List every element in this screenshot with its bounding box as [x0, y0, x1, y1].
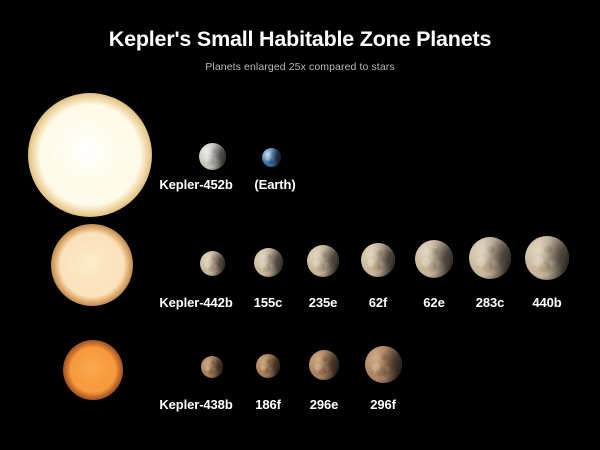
- planet-kepler-283c: [469, 237, 511, 279]
- planet-label-kepler-186f: 186f: [255, 397, 281, 412]
- figure-canvas: Kepler's Small Habitable Zone Planets Pl…: [0, 0, 600, 450]
- figure-title: Kepler's Small Habitable Zone Planets: [0, 27, 600, 52]
- planet-surface-texture: [256, 354, 280, 378]
- k-type-star: [68, 241, 116, 289]
- planet-label-kepler-62e: 62e: [423, 295, 444, 310]
- planet-label-kepler-296e: 296e: [310, 397, 339, 412]
- planet-kepler-62e: [415, 240, 453, 278]
- planet-surface-texture: [469, 237, 511, 279]
- planet-label-kepler-283c: 283c: [476, 295, 505, 310]
- planet-surface-texture: [361, 243, 395, 277]
- planet-kepler-452b: [199, 143, 226, 170]
- planet-surface-texture: [415, 240, 453, 278]
- planet-label-kepler-442b: Kepler-442b: [159, 295, 232, 310]
- planet-kepler-186f: [256, 354, 280, 378]
- m-type-star: [76, 353, 110, 387]
- planet-surface-texture: [200, 251, 225, 276]
- planet-label-kepler-440b: 440b: [532, 295, 561, 310]
- planet-surface-texture: [201, 356, 223, 378]
- planet-kepler-438b: [201, 356, 223, 378]
- planet-kepler-155c: [254, 248, 283, 277]
- planet-surface-texture: [525, 236, 569, 280]
- planet-surface-texture: [307, 245, 339, 277]
- planet-label-kepler-155c: 155c: [254, 295, 283, 310]
- g-type-star: [52, 117, 128, 193]
- planet-label-kepler-452b: Kepler-452b: [159, 177, 232, 192]
- planet-surface-texture: [309, 350, 339, 380]
- planet-label-kepler-235e: 235e: [309, 295, 338, 310]
- planet-kepler-296f: [365, 346, 402, 383]
- planet-label-kepler-296f: 296f: [370, 397, 396, 412]
- planet-earth: [262, 148, 281, 167]
- planet-surface-texture: [199, 143, 226, 170]
- planet-label-earth: (Earth): [254, 177, 295, 192]
- planet-surface-texture: [262, 148, 281, 167]
- planet-label-kepler-62f: 62f: [369, 295, 388, 310]
- planet-kepler-296e: [309, 350, 339, 380]
- planet-label-kepler-438b: Kepler-438b: [159, 397, 232, 412]
- planet-surface-texture: [365, 346, 402, 383]
- figure-subtitle: Planets enlarged 25x compared to stars: [0, 61, 600, 73]
- planet-kepler-62f: [361, 243, 395, 277]
- planet-kepler-442b: [200, 251, 225, 276]
- planet-surface-texture: [254, 248, 283, 277]
- planet-kepler-440b: [525, 236, 569, 280]
- planet-kepler-235e: [307, 245, 339, 277]
